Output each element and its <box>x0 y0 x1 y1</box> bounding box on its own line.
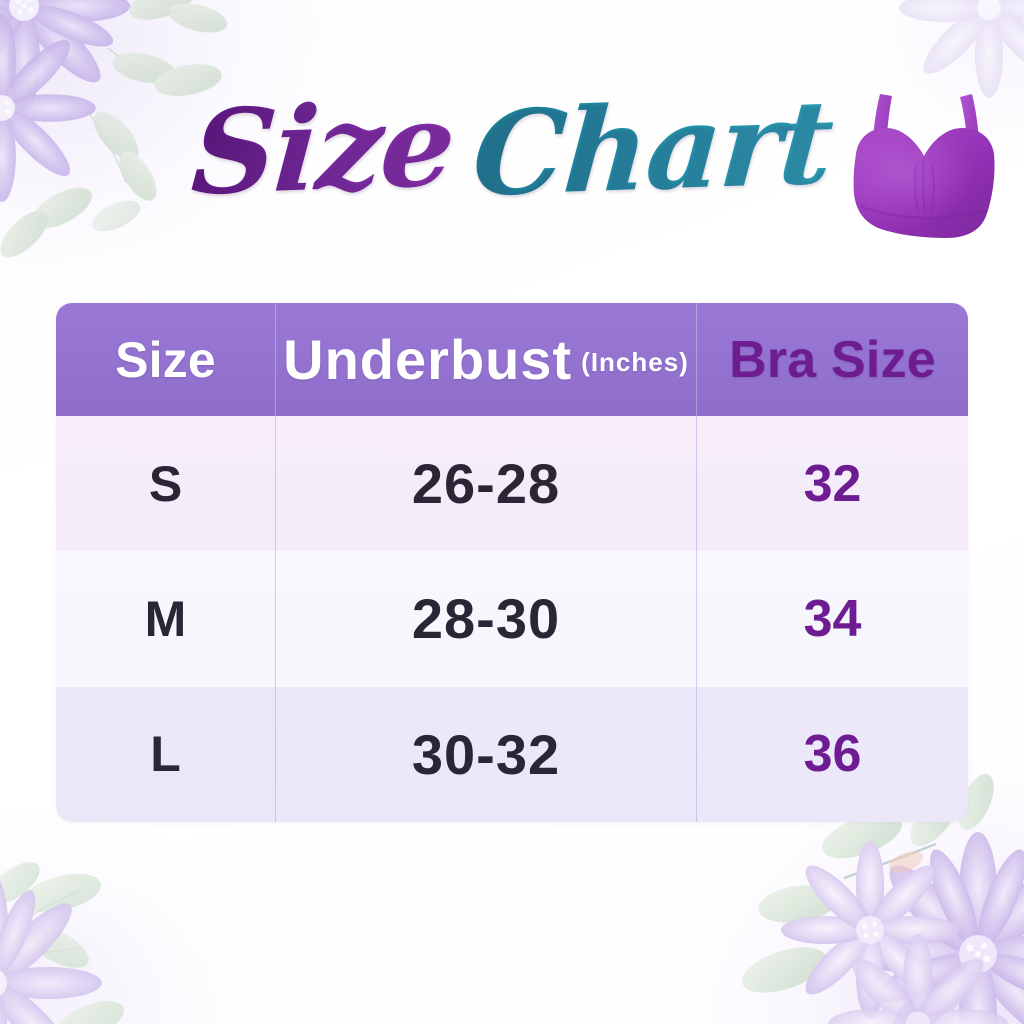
table-row: S 26-28 32 <box>56 416 968 551</box>
cell-bra-size: 34 <box>696 551 968 686</box>
cell-size: S <box>56 416 275 551</box>
column-header-underbust-unit: (Inches) <box>581 347 689 378</box>
table-row: L 30-32 36 <box>56 687 968 822</box>
column-header-underbust: Underbust (Inches) <box>275 303 696 416</box>
cell-underbust: 28-30 <box>275 551 696 686</box>
cell-size: M <box>56 551 275 686</box>
floral-corner-bottom-left-icon <box>0 835 190 1024</box>
cell-size: L <box>56 687 275 822</box>
page-title-chart-word: Chart <box>454 84 836 213</box>
cell-underbust: 26-28 <box>275 416 696 551</box>
page-canvas: SizeChart <box>0 0 1024 1024</box>
column-header-size: Size <box>56 303 275 416</box>
column-header-size-label: Size <box>115 331 216 389</box>
cell-bra-size: 32 <box>696 416 968 551</box>
size-chart-table: Size Underbust (Inches) Bra Size S 26-28… <box>56 303 968 822</box>
column-header-bra-size: Bra Size <box>696 303 968 416</box>
cell-underbust: 30-32 <box>275 687 696 822</box>
table-row: M 28-30 34 <box>56 551 968 686</box>
column-header-bra-size-label: Bra Size <box>729 330 936 390</box>
bra-illustration <box>836 80 1012 246</box>
cell-bra-size: 36 <box>696 687 968 822</box>
column-header-underbust-label: Underbust <box>283 327 572 392</box>
page-title-size-word: Size <box>188 86 462 211</box>
table-header-row: Size Underbust (Inches) Bra Size <box>56 303 968 416</box>
